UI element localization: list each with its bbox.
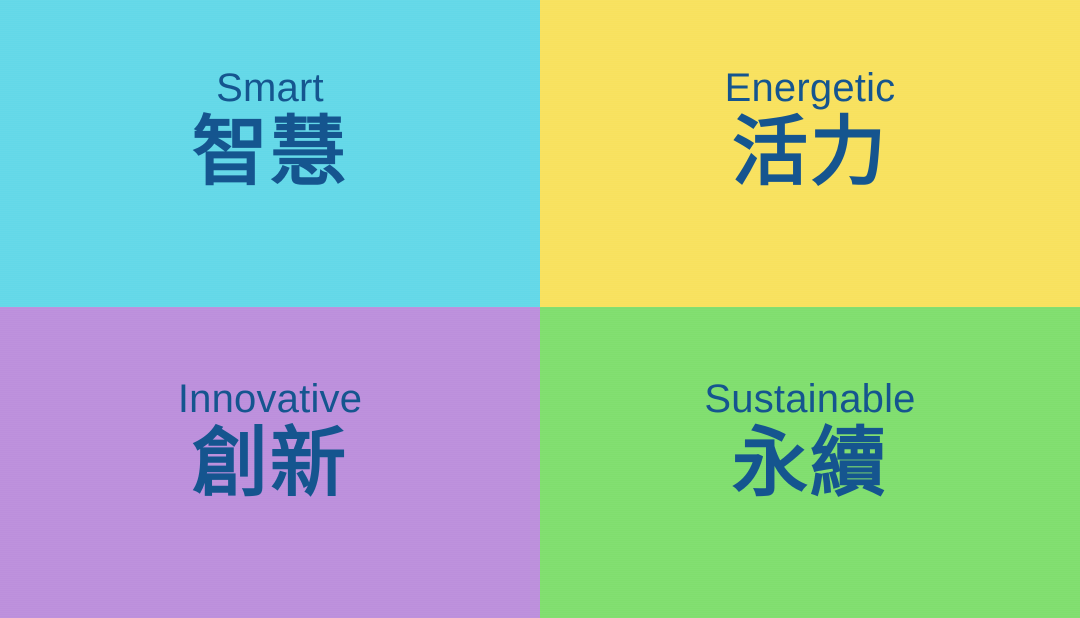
value-quadrant-grid: Smart 智慧 Energetic 活力 Innovative 創新 Sust… (0, 0, 1080, 618)
quadrant-smart-label-zh: 智慧 (192, 112, 348, 191)
quadrant-energetic-label-zh: 活力 (732, 112, 888, 191)
quadrant-innovative: Innovative 創新 (0, 307, 540, 618)
quadrant-innovative-label-en: Innovative (178, 379, 362, 419)
quadrant-sustainable-text-block: Sustainable 永續 (704, 379, 915, 502)
quadrant-sustainable-label-en: Sustainable (704, 379, 915, 419)
quadrant-energetic-text-block: Energetic 活力 (725, 68, 896, 191)
quadrant-sustainable-label-zh: 永續 (732, 423, 888, 502)
quadrant-smart-text-block: Smart 智慧 (192, 68, 348, 191)
quadrant-energetic: Energetic 活力 (540, 0, 1080, 307)
quadrant-sustainable: Sustainable 永續 (540, 307, 1080, 618)
quadrant-smart: Smart 智慧 (0, 0, 540, 307)
quadrant-energetic-label-en: Energetic (725, 68, 896, 108)
quadrant-innovative-text-block: Innovative 創新 (178, 379, 362, 502)
quadrant-innovative-label-zh: 創新 (192, 423, 348, 502)
quadrant-smart-label-en: Smart (216, 68, 324, 108)
